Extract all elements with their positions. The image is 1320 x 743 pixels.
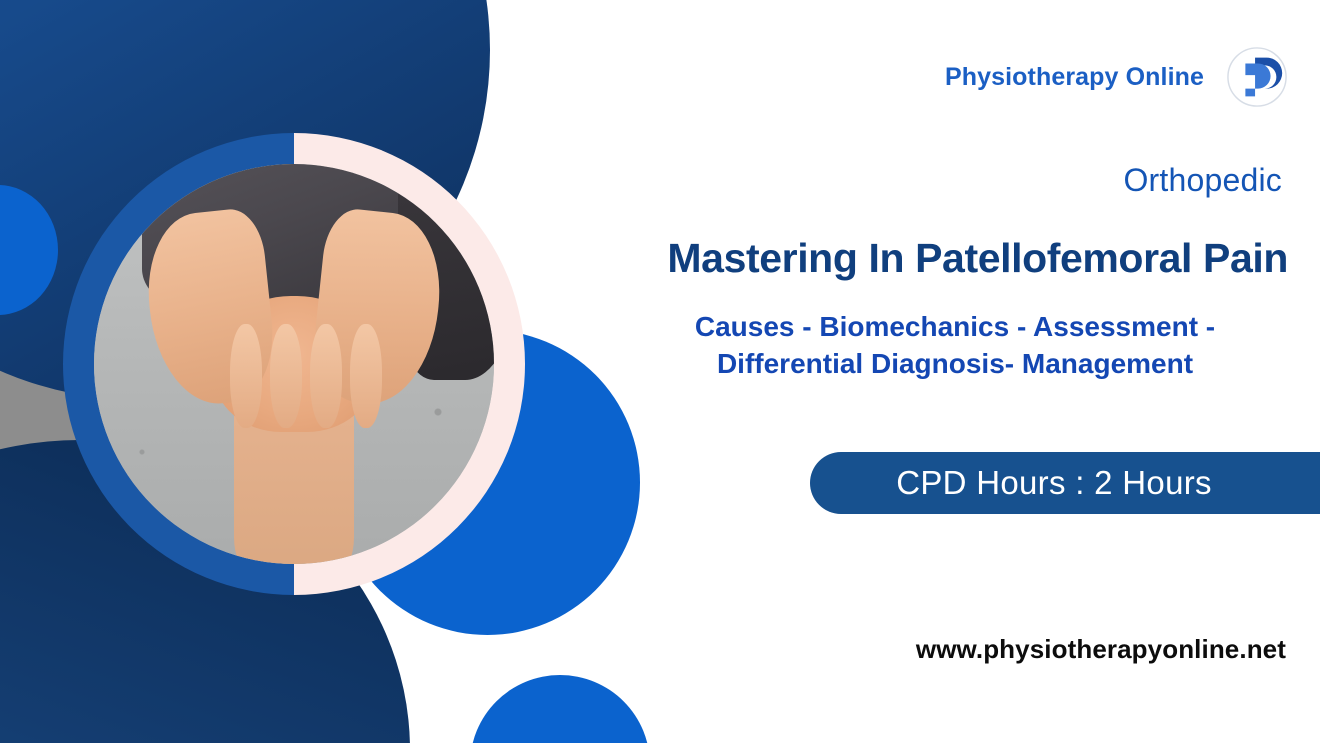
cpd-hours-label: CPD Hours : 2 Hours (896, 464, 1212, 502)
photo-background (94, 164, 494, 564)
course-subtitle-line-2: Differential Diagnosis- Management (610, 345, 1300, 382)
photo-finger (310, 324, 342, 428)
course-promo-poster: Physiotherapy Online Orthopedic Masterin… (0, 0, 1320, 743)
photo-medallion (63, 133, 525, 595)
photo-finger (230, 324, 262, 428)
photo-finger (270, 324, 302, 428)
brand-name: Physiotherapy Online (945, 63, 1204, 92)
brand-lockup[interactable]: Physiotherapy Online (945, 46, 1288, 108)
physiotherapy-p-logo-icon (1226, 46, 1288, 108)
course-title: Mastering In Patellofemoral Pain (667, 235, 1288, 282)
photo-finger (350, 324, 382, 428)
course-subtitle-line-1: Causes - Biomechanics - Assessment - (610, 308, 1300, 345)
course-subtitle: Causes - Biomechanics - Assessment - Dif… (610, 308, 1300, 382)
blue-circle-bottom-shape (470, 675, 650, 743)
cpd-hours-badge: CPD Hours : 2 Hours (810, 452, 1320, 514)
course-category: Orthopedic (1123, 162, 1282, 199)
decorative-artwork (0, 0, 700, 743)
knee-pain-photo (94, 164, 494, 564)
website-url[interactable]: www.physiotherapyonline.net (916, 634, 1286, 665)
